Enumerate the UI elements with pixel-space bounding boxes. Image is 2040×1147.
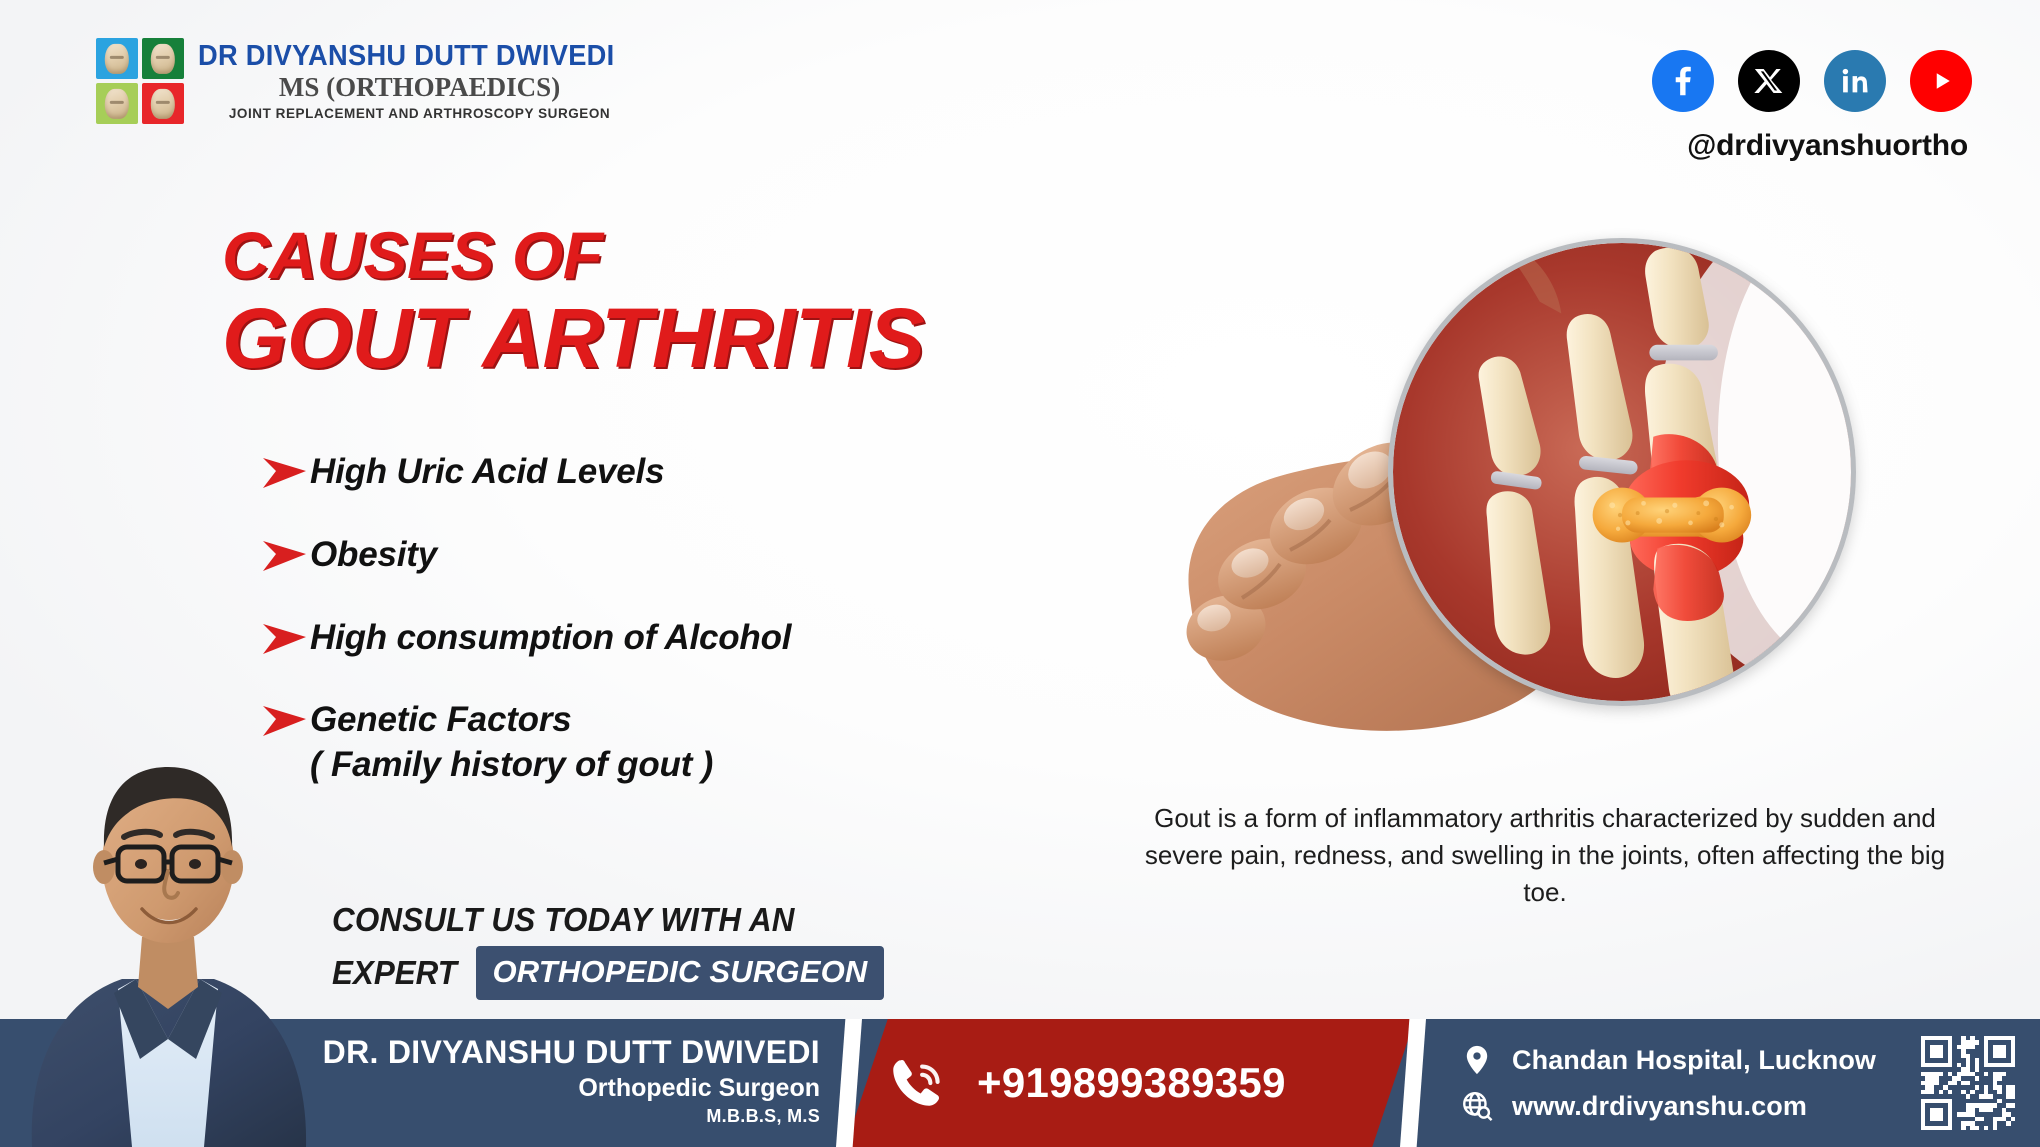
x-twitter-icon[interactable] — [1738, 50, 1800, 112]
list-item: High Uric Acid Levels — [262, 450, 1092, 495]
footer-hospital-name: Chandan Hospital, Lucknow — [1512, 1045, 1876, 1076]
logo-doctor-name: DR DIVYANSHU DUTT DWIVEDI — [198, 41, 614, 71]
footer-website-url: www.drdivyanshu.com — [1512, 1091, 1807, 1122]
footer-phone-number[interactable]: +919899389359 — [977, 1059, 1286, 1107]
clinic-logo: DR DIVYANSHU DUTT DWIVEDI MS (ORTHOPAEDI… — [96, 38, 641, 124]
title-line-1: CAUSES OF — [222, 222, 924, 288]
linkedin-icon[interactable] — [1824, 50, 1886, 112]
cta-line-2: EXPERT ORTHOPEDIC SURGEON — [332, 946, 1032, 1000]
footer-doctor-info: DR. DIVYANSHU DUTT DWIVEDI Orthopedic Su… — [300, 1035, 820, 1127]
footer-phone-block[interactable]: +919899389359 — [885, 1019, 1286, 1147]
logo-tile-shoulder-joint — [142, 83, 184, 124]
globe-search-icon — [1460, 1089, 1494, 1123]
footer-website-row[interactable]: www.drdivyanshu.com — [1460, 1089, 1876, 1123]
arrow-bullet-icon — [262, 622, 310, 656]
youtube-icon[interactable] — [1910, 50, 1972, 112]
causes-list: High Uric Acid Levels Obesity High consu… — [262, 450, 1092, 826]
cta-prefix: EXPERT — [332, 954, 457, 992]
list-item: High consumption of Alcohol — [262, 616, 1092, 661]
magnified-joint-inset — [1388, 238, 1856, 706]
arrow-bullet-icon — [262, 456, 310, 490]
social-icon-row — [1652, 50, 1972, 112]
cta-badge[interactable]: ORTHOPEDIC SURGEON — [476, 946, 883, 1000]
phone-ringing-icon — [885, 1050, 951, 1116]
list-item: Genetic Factors ( Family history of gout… — [262, 698, 1092, 788]
facebook-icon[interactable] — [1652, 50, 1714, 112]
list-item: Obesity — [262, 533, 1092, 578]
description-text: Gout is a form of inflammatory arthritis… — [1135, 800, 1955, 911]
footer-doctor-role: Orthopedic Surgeon — [300, 1074, 820, 1102]
page-title: CAUSES OF GOUT ARTHRITIS — [222, 222, 924, 380]
logo-text-block: DR DIVYANSHU DUTT DWIVEDI MS (ORTHOPAEDI… — [198, 41, 641, 121]
doctor-portrait-photo — [18, 687, 318, 1147]
gout-foot-illustration — [1130, 238, 1880, 778]
list-item-label: Genetic Factors ( Family history of gout… — [310, 698, 713, 788]
arrow-bullet-icon — [262, 539, 310, 573]
social-media-block: @drdivyanshuortho — [1652, 50, 1972, 163]
footer-doctor-degree: M.B.B.S, M.S — [300, 1106, 820, 1127]
cta-line-1: CONSULT US TODAY WITH AN — [332, 900, 997, 940]
qr-code[interactable] — [1918, 1033, 2018, 1133]
location-pin-icon — [1460, 1043, 1494, 1077]
inflamed-joint-diagram — [1393, 243, 1851, 701]
title-line-2: GOUT ARTHRITIS — [222, 296, 924, 380]
logo-tagline: JOINT REPLACEMENT AND ARTHROSCOPY SURGEO… — [198, 106, 641, 121]
poster-canvas: DR DIVYANSHU DUTT DWIVEDI MS (ORTHOPAEDI… — [0, 0, 2040, 1147]
logo-tile-hip-joint — [96, 83, 138, 124]
list-item-label: High consumption of Alcohol — [310, 616, 791, 661]
list-item-label: Obesity — [310, 533, 437, 578]
footer-contact-block: Chandan Hospital, Lucknow www.drdivyansh… — [1460, 1043, 1876, 1123]
footer-hospital-row[interactable]: Chandan Hospital, Lucknow — [1460, 1043, 1876, 1077]
social-handle[interactable]: @drdivyanshuortho — [1652, 129, 1972, 163]
logo-image-grid — [96, 38, 184, 124]
logo-degree: MS (ORTHOPAEDICS) — [198, 72, 641, 103]
call-to-action: CONSULT US TODAY WITH AN EXPERT ORTHOPED… — [332, 900, 1032, 1000]
list-item-label: High Uric Acid Levels — [310, 450, 664, 495]
logo-tile-knee-replacement — [142, 38, 184, 79]
footer-doctor-name: DR. DIVYANSHU DUTT DWIVEDI — [300, 1035, 820, 1071]
logo-tile-knee-xray — [96, 38, 138, 79]
